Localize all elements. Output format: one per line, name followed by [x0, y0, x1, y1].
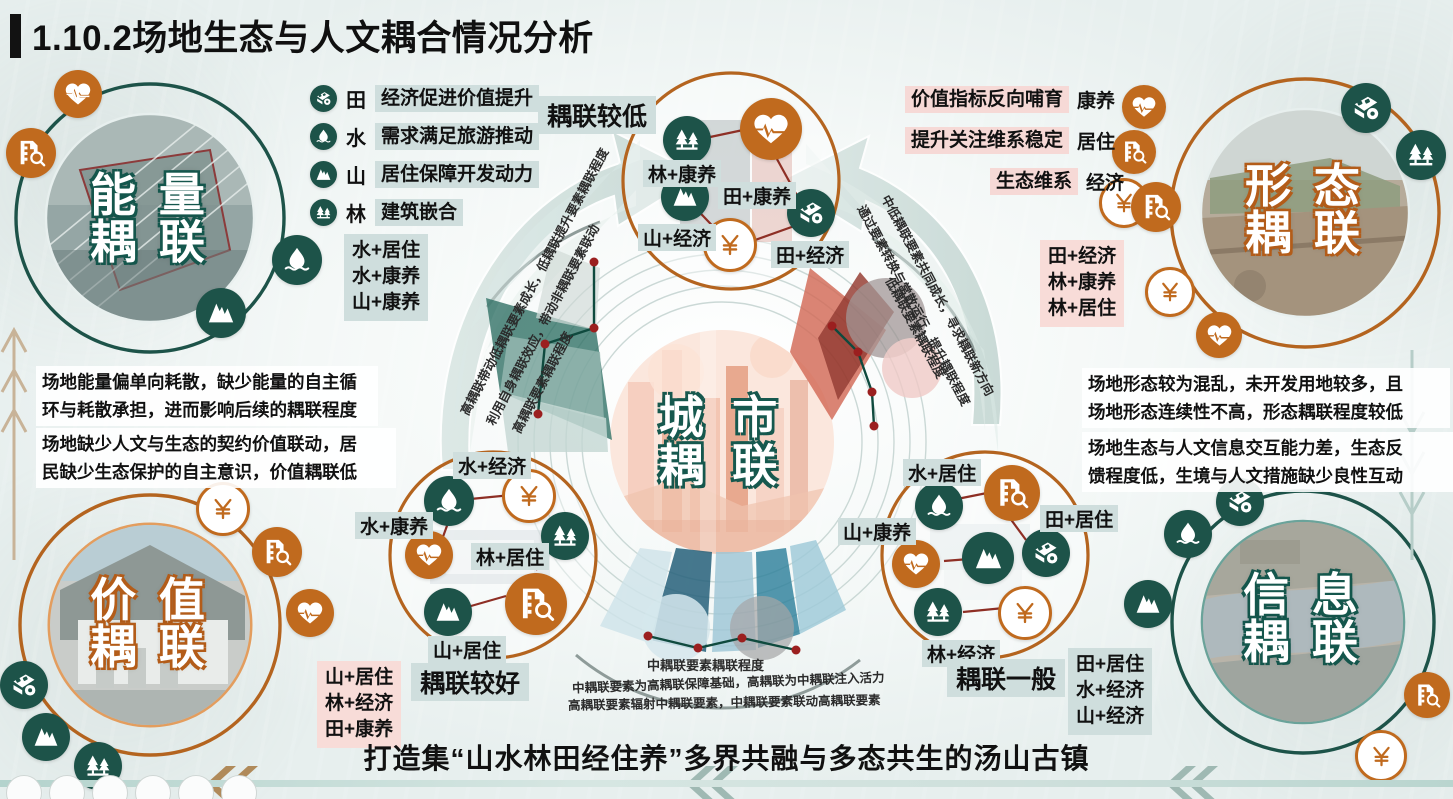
legend-item[interactable]: 水 需求满足旅游推动: [310, 122, 539, 151]
form-caption-line1: 形 态: [1173, 163, 1437, 210]
legend-text: 需求满足旅游推动: [375, 123, 539, 150]
relation-row[interactable]: 生态维系 经济: [990, 168, 1124, 195]
relation-target: 经济: [1086, 168, 1124, 195]
relation-phrase: 提升关注维系稳定: [905, 127, 1069, 154]
hub-line2: 耦 联: [659, 442, 786, 490]
legend-text: 经济促进价值提升: [375, 85, 539, 112]
value-caption-line1: 价 值: [20, 577, 280, 624]
field-icon[interactable]: [1341, 83, 1391, 133]
pair-item: 林+经济: [325, 691, 393, 717]
pair-item: 水+经济: [1076, 678, 1144, 704]
forest-icon: [310, 199, 337, 226]
cluster-bl-status: 耦联较好: [411, 663, 529, 701]
mountain-icon: [310, 161, 337, 188]
pair-item: 田+居住: [1076, 652, 1144, 678]
health-icon[interactable]: [892, 540, 940, 588]
cluster-top-status: 耦联较低: [538, 96, 656, 134]
pill[interactable]: [6, 775, 42, 799]
bottom-pill-bar[interactable]: [0, 775, 257, 799]
cluster-br-label: 山+康养: [838, 518, 916, 545]
pair-item: 林+居住: [1048, 296, 1116, 322]
energy-node-caption: 能 量 耦 联: [18, 172, 282, 266]
legend: 田 经济促进价值提升 水 需求满足旅游推动 山 居住保障开发动力 林 建筑嵌合: [310, 84, 539, 227]
info-caption-line2: 耦 联: [1173, 619, 1433, 666]
water-icon[interactable]: [1164, 510, 1212, 558]
legend-item[interactable]: 山 居住保障开发动力: [310, 160, 539, 189]
cluster-br-label: 水+居住: [903, 459, 981, 486]
legend-element: 水: [346, 122, 366, 151]
title-tick: [10, 14, 21, 58]
building-icon[interactable]: [252, 527, 302, 577]
legend-item[interactable]: 林 建筑嵌合: [310, 198, 539, 227]
note-left-2: 场地缺少人文与生态的契约价值联动，居 民缺少生态保护的自主意识，价值耦联低: [36, 428, 396, 488]
pill[interactable]: [135, 775, 171, 799]
yen-icon[interactable]: [998, 586, 1052, 640]
pair-item: 田+经济: [1048, 244, 1116, 270]
pair-item: 林+康养: [1048, 270, 1116, 296]
water-icon[interactable]: [272, 235, 322, 285]
mountain-icon[interactable]: [1124, 580, 1172, 628]
hub-line1: 城 市: [659, 394, 786, 442]
cluster-top-label: 田+康养: [718, 182, 796, 209]
pair-item: 山+经济: [1076, 704, 1144, 730]
relations-right: 价值指标反向哺育 康养 提升关注维系稳定 居住 生态维系 经济: [905, 86, 1124, 195]
value-node-caption: 价 值 耦 联: [20, 577, 280, 671]
note-right-1: 场地形态较为混乱，未开发用地较多，且 场地形态连续性不高，形态耦联程度较低: [1082, 368, 1450, 428]
energy-caption-line2: 耦 联: [18, 219, 282, 266]
page-title: 1.10.2场地生态与人文耦合情况分析: [10, 10, 594, 61]
infographic-canvas: 1.10.2场地生态与人文耦合情况分析: [0, 0, 1453, 799]
pill[interactable]: [178, 775, 214, 799]
cluster-bl-label: 山+居住: [428, 636, 506, 663]
field-icon: [310, 85, 337, 112]
slogan: 打造集“山水林田经住养”多界共融与多态共生的汤山古镇: [0, 737, 1453, 777]
legend-text: 居住保障开发动力: [375, 161, 539, 188]
pair-item: 山+康养: [352, 290, 420, 316]
value-caption-line2: 耦 联: [20, 624, 280, 671]
building-icon[interactable]: [1404, 672, 1450, 718]
form-caption-line2: 耦 联: [1173, 210, 1437, 257]
relation-row[interactable]: 提升关注维系稳定 居住: [905, 127, 1124, 154]
forest-icon[interactable]: [1396, 130, 1446, 180]
info-caption-line1: 信 息: [1173, 572, 1433, 619]
energy-caption-line1: 能 量: [18, 172, 282, 219]
cluster-bl-label: 林+居住: [471, 543, 549, 570]
health-icon[interactable]: [54, 70, 102, 118]
field-icon[interactable]: [0, 661, 48, 709]
health-icon[interactable]: [740, 98, 802, 160]
legend-text: 建筑嵌合: [375, 199, 463, 226]
info-pair-list: 田+居住 水+经济 山+经济: [1068, 648, 1152, 735]
relation-target: 康养: [1077, 86, 1115, 113]
building-icon[interactable]: [6, 128, 56, 178]
cluster-top-label: 山+经济: [638, 224, 716, 251]
pair-item: 山+居住: [325, 665, 393, 691]
cluster-br-status: 耦联一般: [947, 659, 1065, 697]
health-icon[interactable]: [286, 589, 334, 637]
yen-icon[interactable]: [196, 482, 250, 536]
relation-row[interactable]: 价值指标反向哺育 康养: [905, 86, 1124, 113]
pill[interactable]: [92, 775, 128, 799]
cluster-br-label: 田+居住: [1040, 505, 1118, 532]
relation-phrase: 生态维系: [990, 168, 1078, 195]
mountain-icon[interactable]: [196, 288, 246, 338]
form-pair-list: 田+经济 林+康养 林+居住: [1040, 240, 1124, 327]
form-node[interactable]: 形 态 耦 联: [1173, 81, 1437, 345]
form-node-caption: 形 态 耦 联: [1173, 163, 1437, 257]
building-icon[interactable]: [984, 465, 1040, 521]
note-right-2: 场地生态与人文信息交互能力差，生态反 馈程度低，生境与人文措施缺少良性互动: [1082, 432, 1453, 492]
forest-icon[interactable]: [914, 588, 962, 636]
field-icon[interactable]: [1022, 529, 1070, 577]
relation-target: 居住: [1077, 127, 1115, 154]
info-node-caption: 信 息 耦 联: [1173, 572, 1433, 666]
health-icon[interactable]: [1122, 85, 1166, 129]
yen-icon[interactable]: [1145, 267, 1195, 317]
building-icon[interactable]: [1131, 182, 1181, 232]
mountain-icon[interactable]: [424, 588, 472, 636]
hub-caption: 城 市 耦 联: [608, 328, 836, 556]
note-left-1: 场地能量偏单向耗散，缺少能量的自主循 环与耗散承担，进而影响后续的耦联程度: [36, 366, 378, 426]
legend-element: 田: [346, 84, 366, 113]
water-icon[interactable]: [915, 482, 963, 530]
health-icon[interactable]: [1196, 312, 1242, 358]
value-pair-list: 山+居住 林+经济 田+康养: [317, 661, 401, 748]
legend-element: 林: [346, 198, 366, 227]
cluster-top-label: 林+康养: [643, 160, 721, 187]
cluster-bl-label: 水+经济: [453, 452, 531, 479]
building-icon[interactable]: [505, 573, 567, 635]
pair-item: 水+康养: [352, 264, 420, 290]
pill[interactable]: [221, 775, 257, 799]
relation-phrase: 价值指标反向哺育: [905, 86, 1069, 113]
pair-item: 水+居住: [352, 238, 420, 264]
legend-item[interactable]: 田 经济促进价值提升: [310, 84, 539, 113]
info-node[interactable]: 信 息 耦 联: [1173, 492, 1433, 752]
legend-element: 山: [346, 160, 366, 189]
energy-pair-list: 水+居住 水+康养 山+康养: [344, 234, 428, 321]
cluster-top-label: 田+经济: [771, 241, 849, 268]
mountain-icon[interactable]: [962, 532, 1014, 584]
pill[interactable]: [49, 775, 85, 799]
water-icon: [310, 123, 337, 150]
title-text: 1.10.2场地生态与人文耦合情况分析: [32, 10, 594, 61]
forest-icon[interactable]: [663, 116, 711, 164]
cluster-bl-label: 水+康养: [355, 512, 433, 539]
